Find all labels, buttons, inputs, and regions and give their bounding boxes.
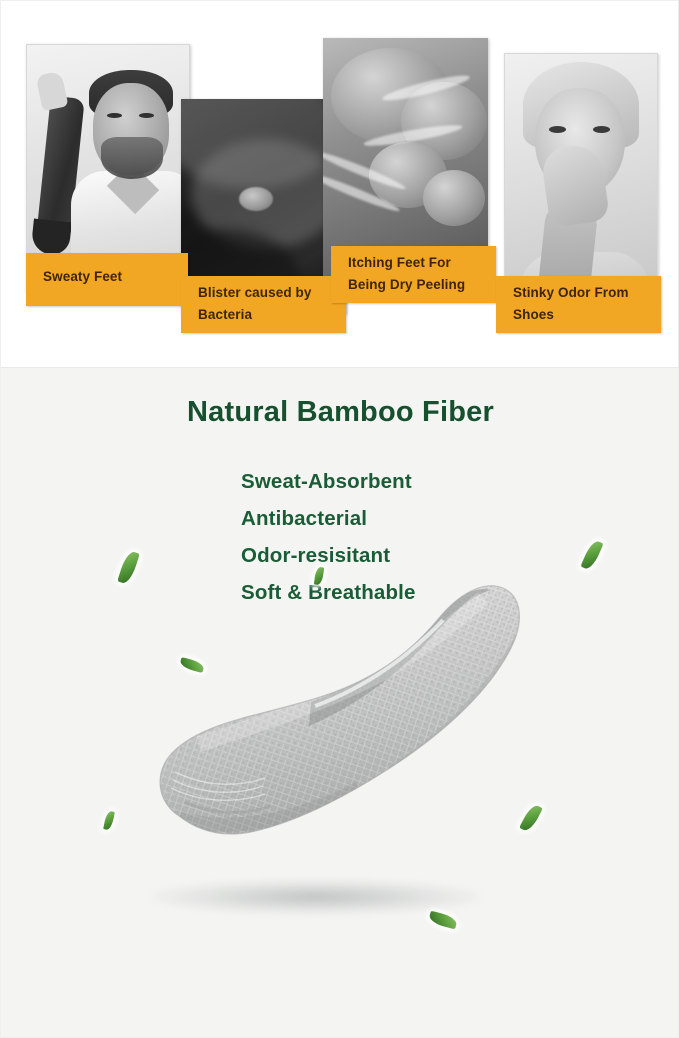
caption-itching-feet: Itching Feet For Being Dry Peeling [331,246,496,303]
caption-stinky-odor: Stinky Odor From Shoes [496,276,661,333]
product-image-sock [121,538,581,938]
bamboo-leaf-icon [103,810,115,830]
problems-section: Sweaty Feet Blister caused by Bacteria I… [1,1,679,367]
feature-item: Antibacterial [241,500,416,537]
eye-shape [549,126,566,133]
caption-line: Shoes [513,304,661,326]
caption-line: Itching Feet For [348,252,496,274]
toe-shape [423,170,485,226]
sock-illustration [139,566,539,896]
caption-line: Being Dry Peeling [348,274,496,296]
caption-line: Stinky Odor From [513,282,661,304]
caption-line: Blister caused by [198,282,346,304]
beard-shape [101,137,163,179]
caption-blister: Blister caused by Bacteria [181,276,346,333]
section-title: Natural Bamboo Fiber [1,396,679,429]
bamboo-fiber-section: Natural Bamboo Fiber Sweat-Absorbent Ant… [1,367,679,1038]
product-infographic: Sweaty Feet Blister caused by Bacteria I… [0,0,679,1038]
eye-shape [593,126,610,133]
problem-photo-stinky-odor [504,53,658,305]
photo-surface [505,54,657,304]
eye-shape [139,113,154,118]
bamboo-leaf-icon [580,539,603,571]
eye-shape [107,113,122,118]
caption-line: Bacteria [198,304,346,326]
caption-line: Sweaty Feet [43,266,188,288]
caption-sweaty-feet: Sweaty Feet [26,253,188,306]
blister-shape [239,187,273,211]
hand-shape [36,71,69,112]
feature-item: Sweat-Absorbent [241,463,416,500]
